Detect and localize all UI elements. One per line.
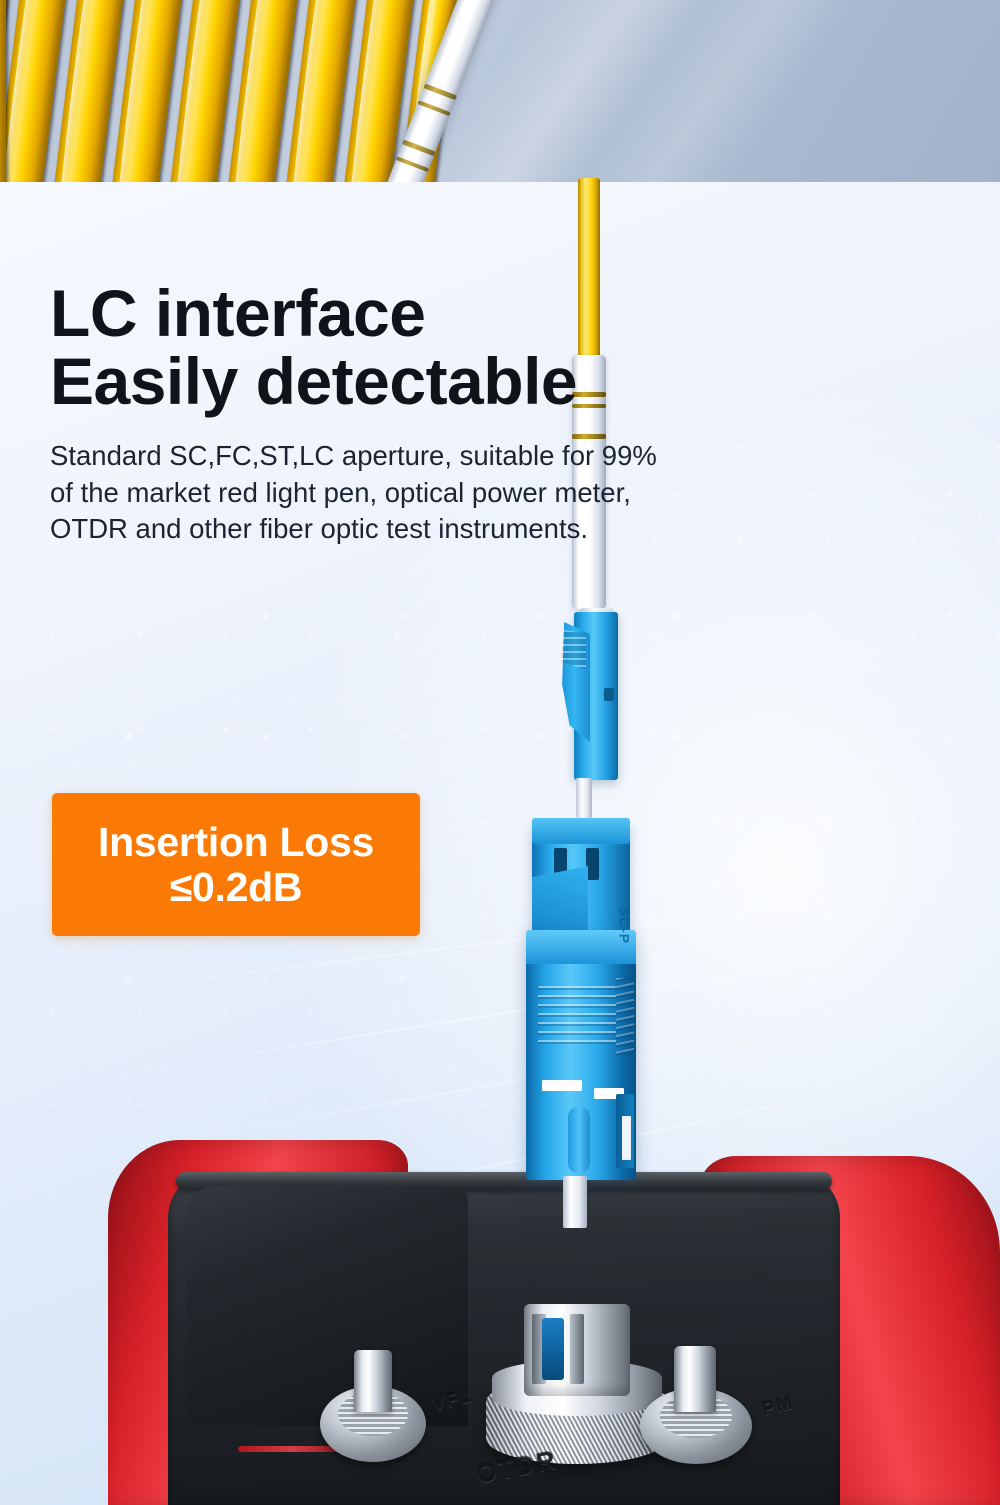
product-feature-page: SC-P VFL: [0, 0, 1000, 1505]
hero-banner-image: [0, 0, 1000, 182]
port-pm[interactable]: [640, 1354, 752, 1464]
headline-line-2: Easily detectable: [50, 348, 930, 416]
insertion-loss-badge: Insertion Loss ≤0.2dB: [52, 793, 420, 936]
description-line-3: OTDR and other fiber optic test instrume…: [50, 511, 890, 548]
badge-value: ≤0.2dB: [170, 865, 302, 909]
page-title: LC interface Easily detectable: [50, 280, 930, 416]
otdr-device: VFL OTDR PM: [0, 1128, 1000, 1505]
badge-title: Insertion Loss: [98, 820, 374, 864]
description-line-2: of the market red light pen, optical pow…: [50, 475, 890, 512]
port-vfl[interactable]: [320, 1356, 426, 1462]
description-text: Standard SC,FC,ST,LC aperture, suitable …: [50, 438, 890, 548]
headline-line-1: LC interface: [50, 276, 425, 350]
description-line-1: Standard SC,FC,ST,LC aperture, suitable …: [50, 438, 890, 475]
copy-block: LC interface Easily detectable Standard …: [50, 280, 930, 548]
